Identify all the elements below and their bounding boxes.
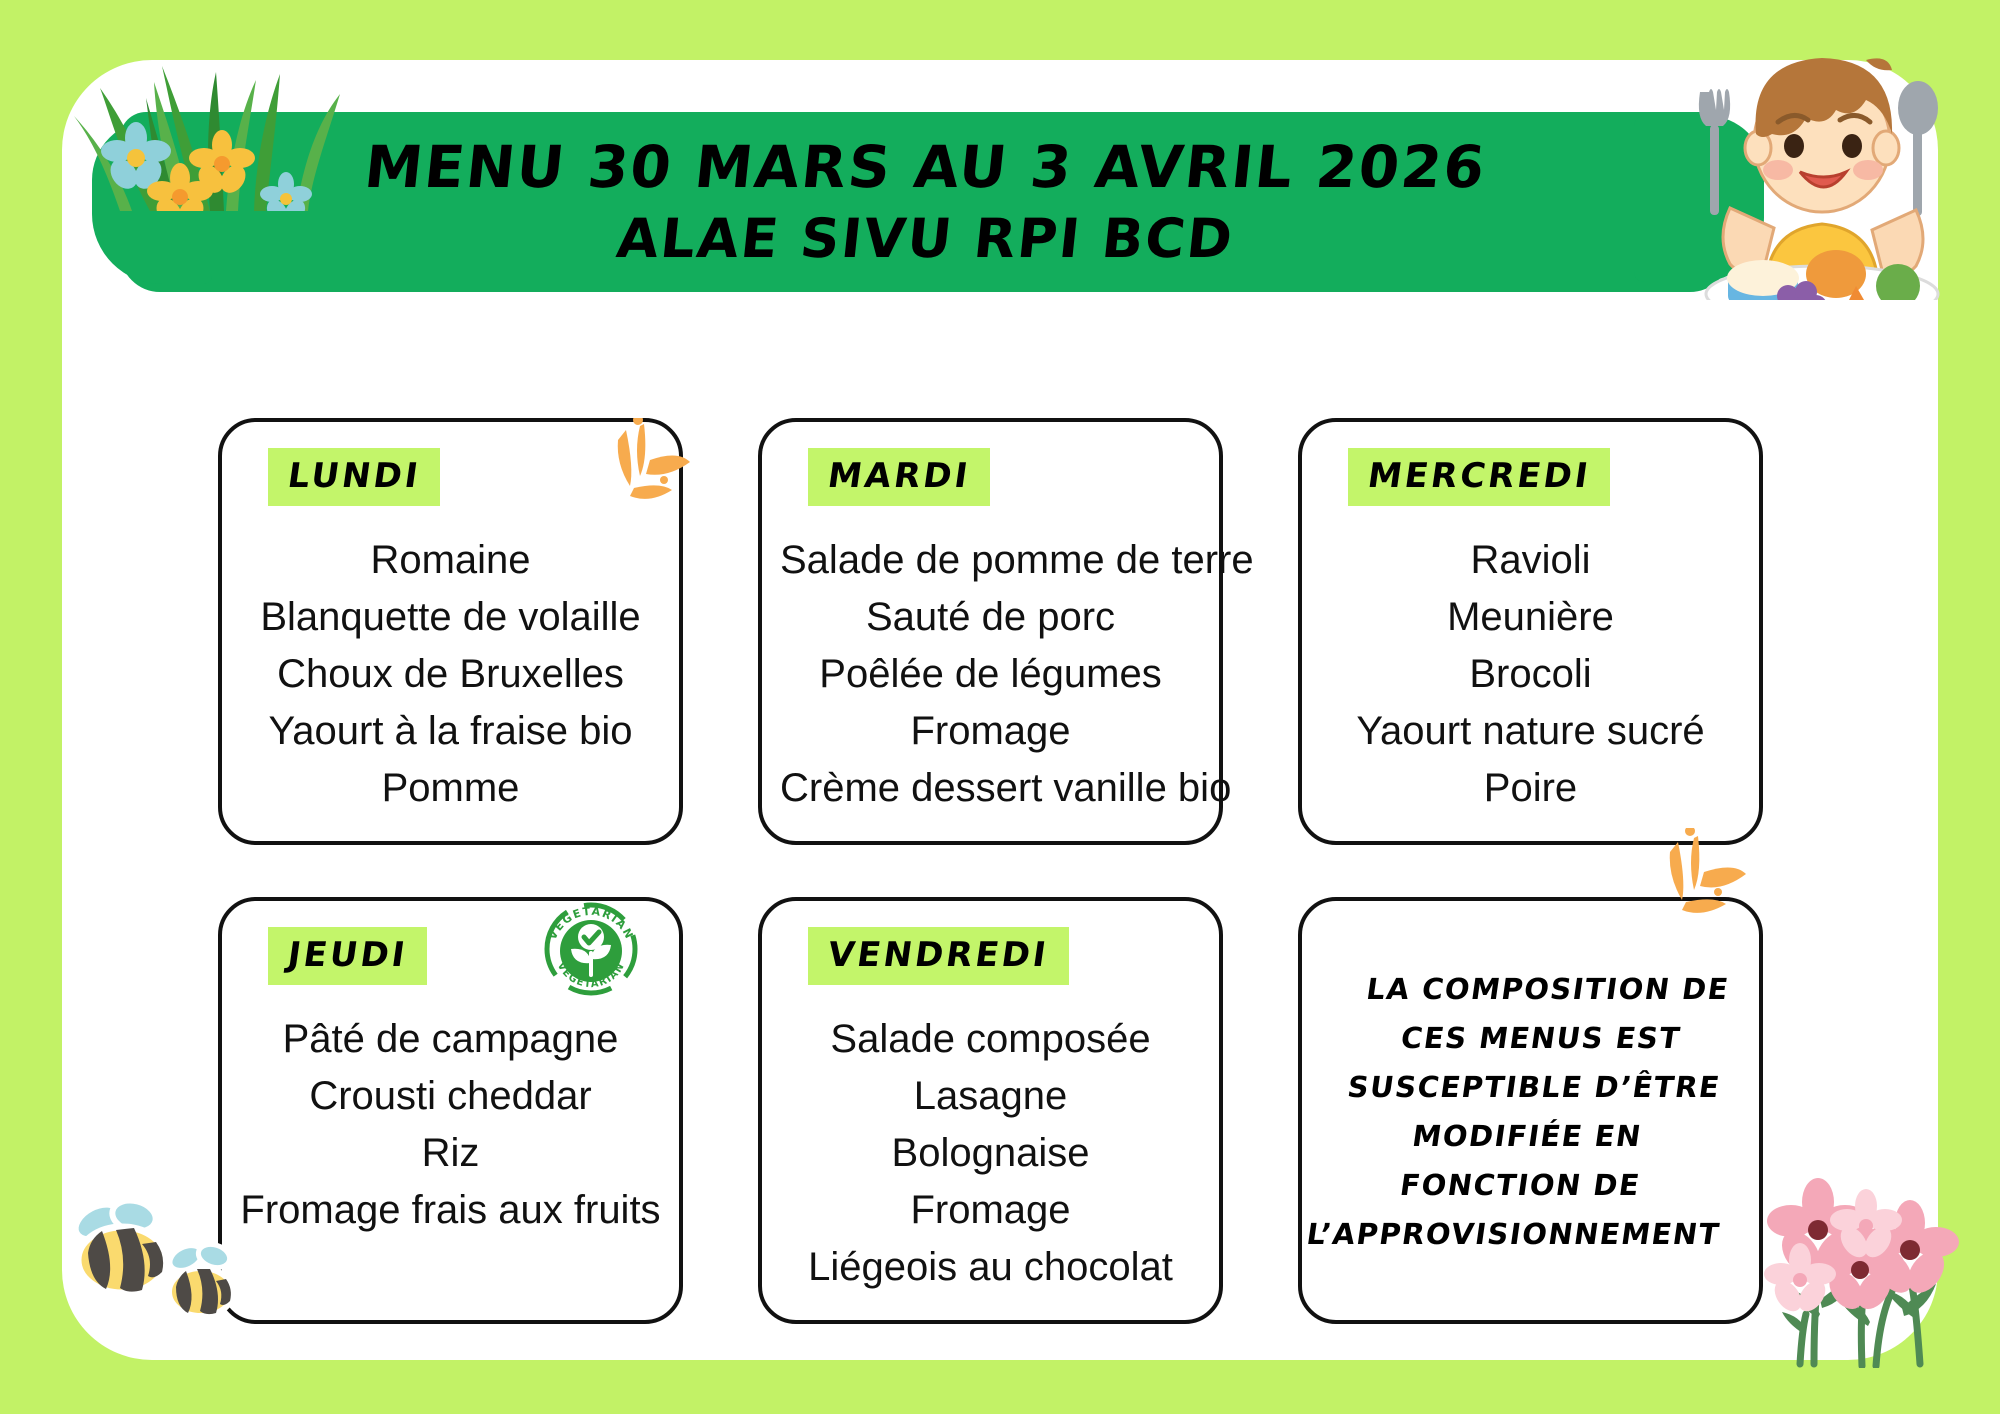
menu-item: Crousti cheddar — [240, 1068, 661, 1125]
menu-item: Choux de Bruxelles — [240, 646, 661, 703]
menu-item: Meunière — [1320, 589, 1741, 646]
card-head: MARDI — [780, 448, 1201, 506]
menu-item: Yaourt à la fraise bio — [240, 703, 661, 760]
day-badge: LUNDI — [268, 448, 440, 506]
menu-item: Fromage — [780, 703, 1201, 760]
day-badge: MARDI — [808, 448, 990, 506]
day-badge: VENDREDI — [808, 927, 1069, 985]
menu-item: Fromage frais aux fruits — [240, 1182, 661, 1239]
menu-item: Blanquette de volaille — [240, 589, 661, 646]
pink-flowers-icon — [1742, 1168, 1992, 1368]
orange-splash-icon — [1660, 828, 1756, 932]
menu-item: Salade de pomme de terre — [780, 532, 1201, 589]
menu-item: Sauté de porc — [780, 589, 1201, 646]
menu-grid: LUNDI Romaine Blanquette de volaille Cho… — [218, 418, 1778, 1324]
menu-item: Pâté de campagne — [240, 1011, 661, 1068]
day-badge: JEUDI — [268, 927, 427, 985]
menu-items: Ravioli Meunière Brocoli Yaourt nature s… — [1320, 532, 1741, 817]
menu-item: Bolognaise — [780, 1125, 1201, 1182]
title-banner: MENU 30 MARS AU 3 AVRIL 2026 ALAE SIVU R… — [120, 112, 1730, 292]
card-head: MERCREDI — [1320, 448, 1741, 506]
menu-item: Poêlée de légumes — [780, 646, 1201, 703]
day-card-mercredi: MERCREDI Ravioli Meunière Brocoli Yaourt… — [1298, 418, 1763, 845]
menu-item: Brocoli — [1320, 646, 1741, 703]
vegetarian-icon: VEGETARIAN VEGETARIAN — [537, 895, 645, 1003]
bees-icon — [38, 1182, 258, 1332]
menu-items: Salade composée Lasagne Bolognaise Froma… — [780, 1011, 1201, 1296]
day-badge: MERCREDI — [1348, 448, 1610, 506]
page-title-line1: MENU 30 MARS AU 3 AVRIL 2026 — [361, 130, 1490, 204]
day-label: LUNDI — [285, 458, 422, 494]
menu-item: Liégeois au chocolat — [780, 1239, 1201, 1296]
menu-items: Pâté de campagne Crousti cheddar Riz Fro… — [240, 1011, 661, 1239]
card-head: LUNDI — [240, 448, 661, 506]
menu-item: Riz — [240, 1125, 661, 1182]
menu-item: Ravioli — [1320, 532, 1741, 589]
menu-item: Yaourt nature sucré — [1320, 703, 1741, 760]
menu-item: Fromage — [780, 1182, 1201, 1239]
day-card-jeudi: JEUDI VEGETARIAN VEGE — [218, 897, 683, 1324]
notice-text: LA COMPOSITION DE CES MENUS EST SUSCEPTI… — [1289, 965, 1771, 1259]
day-label: VENDREDI — [825, 937, 1051, 973]
notice-card: LA COMPOSITION DE CES MENUS EST SUSCEPTI… — [1298, 897, 1763, 1324]
menu-items: Romaine Blanquette de volaille Choux de … — [240, 532, 661, 817]
day-label: MERCREDI — [1365, 458, 1593, 494]
menu-items: Salade de pomme de terre Sauté de porc P… — [780, 532, 1201, 817]
card-head: VENDREDI — [780, 927, 1201, 985]
menu-item: Pomme — [240, 760, 661, 817]
menu-item: Crème dessert vanille bio — [780, 760, 1201, 817]
page-title-line2: ALAE SIVU RPI BCD — [613, 204, 1237, 274]
day-card-mardi: MARDI Salade de pomme de terre Sauté de … — [758, 418, 1223, 845]
notice-wrap: LA COMPOSITION DE CES MENUS EST SUSCEPTI… — [1320, 927, 1741, 1296]
day-label: JEUDI — [285, 937, 409, 973]
day-label: MARDI — [825, 458, 972, 494]
orange-splash-icon — [610, 418, 700, 518]
menu-item: Lasagne — [780, 1068, 1201, 1125]
menu-item: Poire — [1320, 760, 1741, 817]
day-card-vendredi: VENDREDI Salade composée Lasagne Bologna… — [758, 897, 1223, 1324]
menu-item: Salade composée — [780, 1011, 1201, 1068]
menu-item: Romaine — [240, 532, 661, 589]
